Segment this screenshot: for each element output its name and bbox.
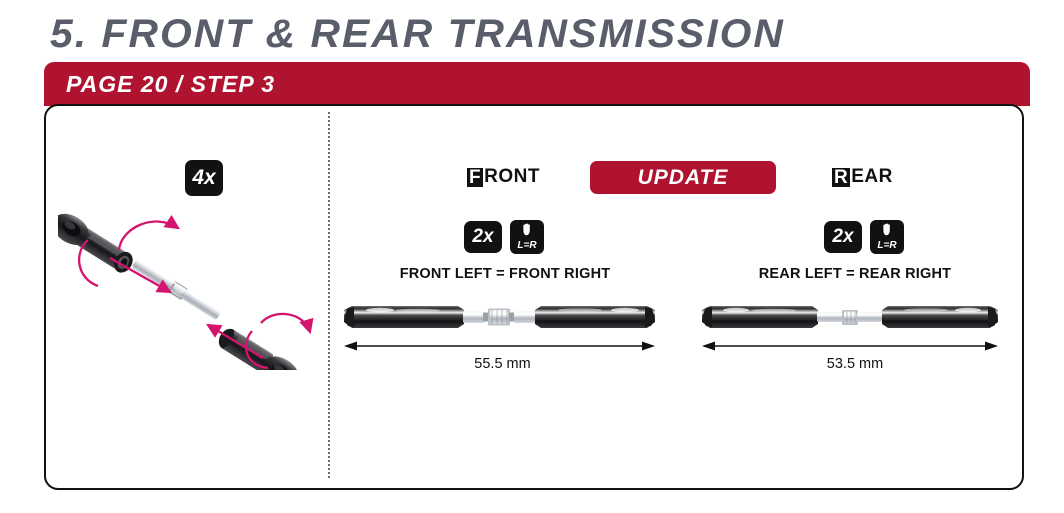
page-step-banner: PAGE 20 / STEP 3 <box>44 62 1030 106</box>
symmetry-badge-front-label: L=R <box>510 241 544 251</box>
page-title: 5. FRONT & REAR TRANSMISSION <box>50 12 785 57</box>
symmetry-badge-rear: L=R <box>870 220 904 254</box>
front-quantity-row: 2x L=R <box>464 220 544 254</box>
column-label-front-rest: RONT <box>484 166 540 188</box>
rear-equality-caption: REAR LEFT = REAR RIGHT <box>740 266 970 282</box>
symmetry-badge-front: L=R <box>510 220 544 254</box>
front-dimension-label: 55.5 mm <box>380 356 625 372</box>
quantity-badge-2x-rear: 2x <box>824 221 862 253</box>
symmetry-badge-rear-label: L=R <box>870 241 904 251</box>
column-label-rear-rest: EAR <box>851 166 893 188</box>
update-badge: UPDATE <box>590 161 776 194</box>
column-label-rear-initial: R <box>832 168 850 187</box>
rear-dimension-label: 53.5 mm <box>740 356 970 372</box>
gloves-icon <box>870 223 904 236</box>
turnbuckle-rotation-diagram <box>58 190 328 370</box>
quantity-badge-2x-front: 2x <box>464 221 502 253</box>
rear-quantity-row: 2x L=R <box>824 220 904 254</box>
gloves-icon <box>510 223 544 236</box>
column-label-rear: REAR <box>832 166 893 188</box>
column-label-front: FRONT <box>467 166 540 188</box>
banner-label: PAGE 20 / STEP 3 <box>66 71 275 98</box>
front-equality-caption: FRONT LEFT = FRONT RIGHT <box>380 266 630 282</box>
vertical-divider <box>328 112 330 478</box>
column-label-front-initial: F <box>467 168 483 187</box>
